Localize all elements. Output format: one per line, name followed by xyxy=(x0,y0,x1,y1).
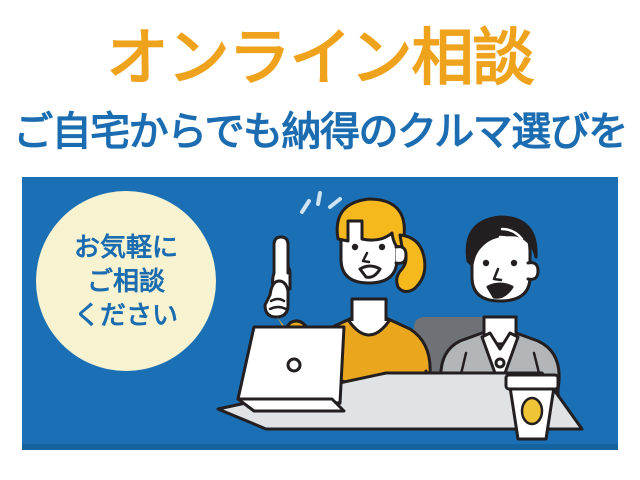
badge-line-3: ください xyxy=(74,298,178,332)
page-subtitle: ご自宅からでも納得のクルマ選びを xyxy=(0,108,640,156)
illustration-panel: お気軽に ご相談 ください xyxy=(22,177,618,450)
badge-line-1: お気軽に xyxy=(74,230,178,264)
badge-line-2: ご相談 xyxy=(87,264,165,298)
banner-root: オンライン相談 ご自宅からでも納得のクルマ選びを xyxy=(0,0,640,480)
callout-badge: お気軽に ご相談 ください xyxy=(36,191,216,371)
page-title: オンライン相談 xyxy=(0,24,640,94)
